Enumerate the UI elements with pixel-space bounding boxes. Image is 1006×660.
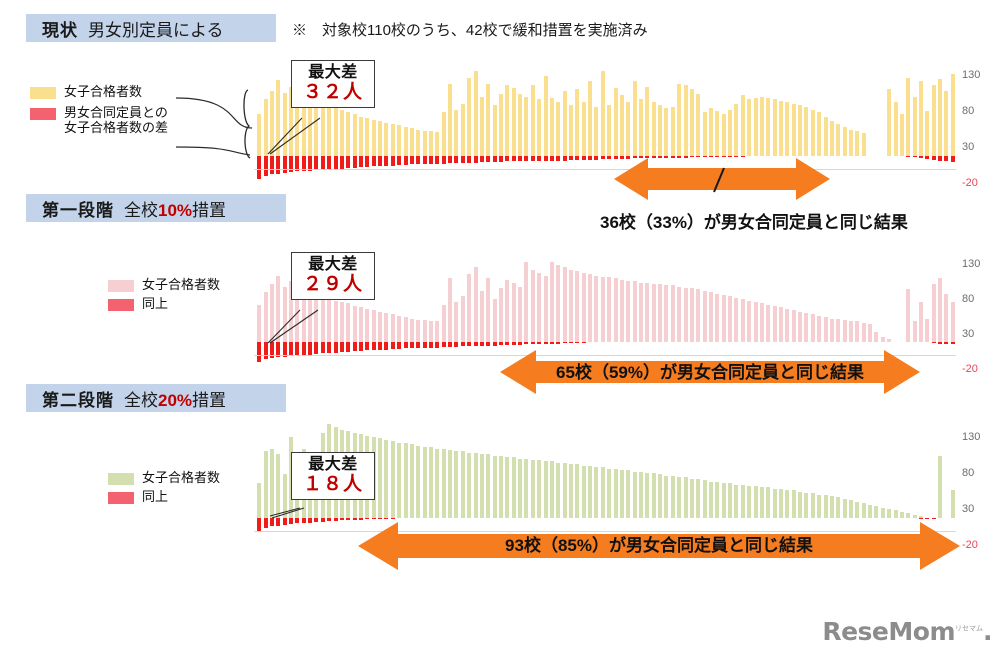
- chart-bar-segment-female-pass: [747, 486, 751, 518]
- callout-stage2-value: １８人: [300, 474, 366, 495]
- chart-bar: [684, 341, 688, 342]
- chart-bar: [448, 341, 452, 342]
- logo-kana: リセマム: [955, 625, 983, 633]
- chart-bar-segment-female-pass: [849, 321, 853, 342]
- chart-bar: [633, 155, 637, 156]
- chart-bar-segment-difference: [709, 156, 713, 157]
- chart-bar: [448, 155, 452, 156]
- chart-bar-segment-female-pass: [391, 124, 395, 156]
- chart-bar-segment-female-pass: [588, 274, 592, 342]
- chart-bar-segment-female-pass: [728, 110, 732, 156]
- chart-bar-segment-female-pass: [429, 447, 433, 518]
- chart-bar: [346, 517, 350, 518]
- chart-bar: [588, 155, 592, 156]
- chart-bar: [327, 517, 331, 518]
- chart-bar: [582, 155, 586, 156]
- chart-bar-segment-difference: [365, 342, 369, 350]
- chart-bar-segment-female-pass: [524, 262, 528, 342]
- chart-bar: [308, 155, 312, 156]
- chart-bar: [295, 517, 299, 518]
- chart-bar: [461, 517, 465, 518]
- chart-bar: [461, 341, 465, 342]
- chart-bar-segment-female-pass: [404, 443, 408, 518]
- chart-bar-segment-difference: [353, 156, 357, 168]
- chart-bar: [894, 341, 898, 342]
- chart-bar-segment-difference: [448, 342, 452, 347]
- chart-bar-segment-female-pass: [378, 438, 382, 517]
- chart-bar-segment-difference: [480, 156, 484, 162]
- chart-bar: [416, 155, 420, 156]
- chart-bar: [785, 341, 789, 342]
- chart-bar: [804, 517, 808, 518]
- chart-bar-segment-female-pass: [601, 467, 605, 517]
- chart-bar-segment-female-pass: [639, 99, 643, 155]
- chart-bar-segment-difference: [416, 342, 420, 348]
- chart-bar-segment-female-pass: [321, 296, 325, 342]
- chart-bar: [715, 341, 719, 342]
- section-header-stage1-strong: 第一段階: [42, 196, 114, 221]
- ytick-80: 80: [962, 467, 974, 479]
- chart-bar-segment-difference: [938, 156, 942, 161]
- chart-bar-segment-female-pass: [747, 301, 751, 343]
- chart-bar-segment-female-pass: [804, 107, 808, 156]
- chart-bar-segment-female-pass: [906, 513, 910, 517]
- chart-bar: [270, 517, 274, 518]
- chart-bar-segment-female-pass: [760, 303, 764, 342]
- chart-bar: [696, 341, 700, 342]
- chart-bar-segment-difference: [314, 518, 318, 522]
- leader-line-difference: [176, 147, 250, 155]
- chart-bar: [283, 517, 287, 518]
- chart-bar-segment-female-pass: [728, 483, 732, 518]
- chart-bar: [505, 341, 509, 342]
- chart-bar-segment-difference: [575, 342, 579, 343]
- chart-bar: [270, 155, 274, 156]
- chart-bar: [474, 155, 478, 156]
- chart-bar: [544, 341, 548, 342]
- chart-bar-segment-difference: [340, 342, 344, 352]
- legend-swatch-female-pass: [108, 473, 134, 485]
- chart-bar-segment-female-pass: [435, 132, 439, 156]
- chart-bar: [671, 155, 675, 156]
- chart-bar-segment-female-pass: [499, 288, 503, 342]
- chart-bar: [658, 517, 662, 518]
- chart-bar: [804, 155, 808, 156]
- chart-bar-segment-difference: [372, 518, 376, 519]
- chart-bar-segment-female-pass: [257, 114, 261, 156]
- chart-bar-segment-difference: [550, 156, 554, 161]
- legend-label-difference: 同上: [142, 489, 168, 504]
- chart-bar: [836, 155, 840, 156]
- chart-bar-segment-female-pass: [664, 108, 668, 156]
- chart-bar: [569, 341, 573, 342]
- chart-bar-segment-female-pass: [435, 449, 439, 518]
- chart-bar-segment-female-pass: [378, 121, 382, 156]
- chart-bar-segment-female-pass: [365, 309, 369, 342]
- chart-bar-segment-female-pass: [442, 112, 446, 155]
- chart-bar-segment-female-pass: [264, 292, 268, 342]
- chart-bar-segment-female-pass: [384, 313, 388, 342]
- legend-item: 同上: [108, 489, 220, 504]
- legend-item: 女子合格者数: [30, 84, 168, 99]
- chart-bar-segment-difference: [384, 518, 388, 519]
- chart-bar-segment-female-pass: [766, 487, 770, 517]
- chart-bar: [435, 517, 439, 518]
- chart-bar: [346, 155, 350, 156]
- chart-bar: [887, 155, 891, 156]
- chart-bar: [575, 517, 579, 518]
- chart-bar: [760, 341, 764, 342]
- chart-bar-segment-female-pass: [620, 280, 624, 342]
- chart-bar: [556, 517, 560, 518]
- chart-bar: [754, 341, 758, 342]
- chart-bar-segment-female-pass: [696, 94, 700, 156]
- ytick-30: 30: [962, 328, 974, 340]
- chart-bar: [365, 517, 369, 518]
- chart-bar-segment-female-pass: [734, 298, 738, 342]
- chart-bar-segment-female-pass: [792, 310, 796, 342]
- chart-bar: [518, 517, 522, 518]
- chart-bar-segment-difference: [257, 518, 261, 531]
- chart-bar-segment-difference: [919, 156, 923, 158]
- chart-stage1-yaxis: 130 80 30 -20: [962, 252, 1006, 356]
- chart-bar: [677, 155, 681, 156]
- chart-bar-segment-female-pass: [620, 95, 624, 155]
- legend-stage1: 女子合格者数 同上: [108, 277, 220, 314]
- chart-bar-segment-female-pass: [664, 285, 668, 342]
- chart-bar: [289, 155, 293, 156]
- chart-bar: [696, 155, 700, 156]
- chart-bar: [722, 341, 726, 342]
- chart-bar-segment-female-pass: [410, 319, 414, 343]
- chart-bar-segment-difference: [448, 156, 452, 163]
- chart-current-yaxis: 130 80 30 -20: [962, 62, 1006, 170]
- chart-bar: [709, 341, 713, 342]
- chart-bar-segment-female-pass: [467, 453, 471, 518]
- chart-bar-segment-female-pass: [798, 105, 802, 155]
- chart-bar-segment-difference: [378, 156, 382, 167]
- chart-bar-segment-difference: [474, 156, 478, 163]
- chart-bar: [728, 341, 732, 342]
- chart-bar: [690, 517, 694, 518]
- chart-bar: [658, 341, 662, 342]
- chart-bar-segment-female-pass: [709, 108, 713, 156]
- chart-bar-segment-female-pass: [378, 312, 382, 343]
- chart-bar-segment-female-pass: [537, 99, 541, 155]
- chart-bar-segment-female-pass: [384, 123, 388, 156]
- chart-bar: [404, 341, 408, 342]
- chart-bar-segment-female-pass: [754, 486, 758, 518]
- chart-bar-segment-female-pass: [512, 457, 516, 517]
- chart-bar-segment-female-pass: [582, 466, 586, 518]
- chart-bar: [314, 341, 318, 342]
- chart-bar-segment-female-pass: [633, 81, 637, 156]
- chart-bar: [868, 155, 872, 156]
- chart-bar: [327, 341, 331, 342]
- chart-bar-segment-difference: [365, 518, 369, 519]
- chart-bar-segment-difference: [932, 156, 936, 160]
- chart-bar: [537, 341, 541, 342]
- chart-bar: [677, 517, 681, 518]
- chart-bar-segment-female-pass: [887, 509, 891, 518]
- chart-bar-segment-female-pass: [696, 289, 700, 342]
- chart-bar-segment-female-pass: [798, 492, 802, 518]
- chart-bar: [862, 341, 866, 342]
- chart-bar-segment-difference: [524, 342, 528, 344]
- chart-bar: [607, 517, 611, 518]
- chart-bar-segment-difference: [289, 518, 293, 524]
- chart-bar-segment-female-pass: [626, 470, 630, 518]
- chart-bar: [836, 517, 840, 518]
- chart-bar-segment-female-pass: [843, 127, 847, 156]
- chart-bar: [652, 155, 656, 156]
- chart-bar-segment-difference: [429, 342, 433, 348]
- chart-bar-segment-female-pass: [493, 299, 497, 342]
- chart-bar: [709, 517, 713, 518]
- chart-bar: [824, 155, 828, 156]
- chart-bar: [454, 341, 458, 342]
- chart-bar-segment-female-pass: [830, 496, 834, 518]
- chart-bar: [620, 155, 624, 156]
- chart-bar-segment-difference: [270, 156, 274, 175]
- chart-bar-segment-female-pass: [372, 120, 376, 156]
- chart-bar-segment-difference: [308, 342, 312, 354]
- chart-bar: [874, 155, 878, 156]
- chart-bar: [556, 155, 560, 156]
- chart-bar: [346, 341, 350, 342]
- chart-bar: [404, 517, 408, 518]
- arrow-current: [614, 158, 830, 200]
- chart-bar: [925, 155, 929, 156]
- chart-bar-segment-difference: [537, 342, 541, 344]
- chart-bar: [760, 155, 764, 156]
- chart-bar-segment-difference: [397, 342, 401, 349]
- chart-bar-segment-female-pass: [760, 97, 764, 156]
- chart-bar: [340, 155, 344, 156]
- chart-bar: [397, 341, 401, 342]
- chart-bar-segment-difference: [423, 342, 427, 348]
- chart-bar: [302, 517, 306, 518]
- chart-bar: [365, 341, 369, 342]
- section-header-stage2: 第二段階 全校20%措置: [26, 384, 286, 412]
- chart-bar: [512, 341, 516, 342]
- chart-bar: [474, 517, 478, 518]
- chart-bar-segment-female-pass: [550, 461, 554, 517]
- chart-bar: [894, 155, 898, 156]
- chart-bar: [353, 517, 357, 518]
- chart-bar-segment-difference: [410, 156, 414, 165]
- chart-bar-segment-difference: [722, 156, 726, 157]
- chart-bar-segment-difference: [365, 156, 369, 168]
- chart-bar-segment-difference: [454, 156, 458, 163]
- chart-bar: [734, 155, 738, 156]
- chart-bar: [493, 341, 497, 342]
- chart-bar-segment-difference: [461, 342, 465, 346]
- chart-bar-segment-female-pass: [283, 287, 287, 342]
- chart-bar: [461, 155, 465, 156]
- chart-bar: [938, 155, 942, 156]
- chart-bar-segment-female-pass: [792, 104, 796, 156]
- chart-bar: [556, 341, 560, 342]
- chart-bar-segment-female-pass: [709, 292, 713, 342]
- chart-bar-segment-female-pass: [404, 317, 408, 342]
- chart-bar-segment-female-pass: [913, 97, 917, 156]
- chart-bar: [881, 341, 885, 342]
- chart-bar-segment-female-pass: [754, 302, 758, 342]
- chart-bar-segment-female-pass: [601, 71, 605, 156]
- chart-bar: [734, 341, 738, 342]
- chart-bar-segment-female-pass: [283, 93, 287, 156]
- chart-bar: [537, 155, 541, 156]
- chart-bar: [512, 517, 516, 518]
- chart-bar: [626, 155, 630, 156]
- chart-bar: [314, 517, 318, 518]
- chart-bar-segment-female-pass: [327, 298, 331, 342]
- chart-bar: [900, 155, 904, 156]
- chart-bar: [855, 341, 859, 342]
- chart-bar: [365, 155, 369, 156]
- chart-bar: [766, 155, 770, 156]
- chart-bar: [696, 517, 700, 518]
- chart-bar: [486, 517, 490, 518]
- ytick-130: 130: [962, 431, 980, 443]
- chart-bar: [493, 155, 497, 156]
- ytick-30: 30: [962, 503, 974, 515]
- arrow-stage2: 93校（85%）が男女合同定員と同じ結果: [358, 522, 960, 570]
- chart-bar-segment-difference: [518, 342, 522, 345]
- chart-bar: [792, 155, 796, 156]
- chart-bar-segment-difference: [410, 342, 414, 348]
- chart-bar: [467, 517, 471, 518]
- chart-bar-segment-difference: [582, 156, 586, 160]
- chart-bar: [951, 341, 955, 342]
- chart-bar-segment-difference: [594, 156, 598, 160]
- chart-bar: [391, 155, 395, 156]
- chart-bar-segment-difference: [378, 342, 382, 350]
- chart-bar-segment-female-pass: [633, 472, 637, 518]
- chart-bar-segment-female-pass: [550, 262, 554, 342]
- leader-line-female-pass: [176, 98, 252, 128]
- chart-bar: [467, 155, 471, 156]
- chart-bar-segment-difference: [944, 156, 948, 162]
- chart-bar: [334, 517, 338, 518]
- chart-bar: [951, 155, 955, 156]
- chart-bar-segment-female-pass: [779, 307, 783, 342]
- chart-bar: [518, 155, 522, 156]
- chart-bar: [913, 341, 917, 342]
- chart-bar-segment-difference: [327, 156, 331, 170]
- chart-bar: [480, 341, 484, 342]
- chart-bar-segment-female-pass: [760, 487, 764, 517]
- chart-bar-segment-female-pass: [836, 319, 840, 342]
- chart-bar: [321, 155, 325, 156]
- chart-bar-segment-female-pass: [454, 302, 458, 342]
- chart-bar: [614, 517, 618, 518]
- chart-bar: [416, 517, 420, 518]
- chart-bar: [594, 341, 598, 342]
- chart-bar-segment-female-pass: [416, 320, 420, 342]
- chart-bar-segment-difference: [951, 156, 955, 162]
- chart-bar: [321, 517, 325, 518]
- chart-bar-segment-difference: [340, 156, 344, 169]
- chart-bar-segment-female-pass: [276, 80, 280, 156]
- chart-bar-segment-female-pass: [798, 312, 802, 343]
- chart-bar-segment-female-pass: [817, 112, 821, 155]
- chart-bar-segment-female-pass: [690, 89, 694, 155]
- chart-bar-segment-difference: [321, 156, 325, 170]
- chart-bar: [569, 517, 573, 518]
- chart-bar-segment-female-pass: [849, 500, 853, 517]
- chart-bar-segment-female-pass: [652, 284, 656, 342]
- chart-bar-segment-female-pass: [919, 81, 923, 156]
- chart-bar-segment-female-pass: [594, 467, 598, 517]
- chart-bar: [849, 155, 853, 156]
- chart-bar-segment-female-pass: [671, 476, 675, 518]
- chart-bar: [397, 517, 401, 518]
- chart-bar-segment-female-pass: [531, 85, 535, 156]
- chart-bar-segment-difference: [715, 156, 719, 157]
- chart-bar-segment-female-pass: [766, 305, 770, 342]
- chart-bar-segment-female-pass: [435, 321, 439, 342]
- chart-bar-segment-difference: [544, 342, 548, 343]
- chart-bar-segment-female-pass: [664, 476, 668, 518]
- chart-bar-segment-difference: [264, 342, 268, 359]
- chart-bar-segment-difference: [607, 156, 611, 160]
- chart-bar-segment-female-pass: [524, 459, 528, 518]
- chart-bar-segment-female-pass: [257, 483, 261, 518]
- chart-bar-segment-female-pass: [645, 87, 649, 156]
- chart-bar: [404, 155, 408, 156]
- chart-bar-segment-female-pass: [448, 278, 452, 342]
- ytick-neg20: -20: [962, 177, 978, 189]
- chart-bar-segment-difference: [353, 518, 357, 520]
- callout-stage1-title: 最大差: [300, 255, 366, 274]
- chart-bar: [614, 341, 618, 342]
- chart-bar-segment-female-pass: [569, 464, 573, 517]
- chart-bar-segment-female-pass: [556, 463, 560, 518]
- chart-bar: [722, 155, 726, 156]
- chart-bar: [289, 341, 293, 342]
- chart-bar-segment-female-pass: [474, 267, 478, 342]
- chart-bar-segment-female-pass: [862, 323, 866, 342]
- chart-bar-segment-difference: [327, 342, 331, 353]
- chart-bar-segment-female-pass: [722, 483, 726, 518]
- chart-bar-segment-difference: [314, 342, 318, 354]
- chart-bar-segment-difference: [556, 156, 560, 161]
- chart-bar-segment-female-pass: [480, 291, 484, 342]
- chart-bar-segment-female-pass: [855, 321, 859, 342]
- chart-bar: [531, 517, 535, 518]
- chart-bar: [607, 155, 611, 156]
- chart-bar: [652, 517, 656, 518]
- chart-bar-segment-female-pass: [913, 321, 917, 342]
- chart-bar-segment-difference: [518, 156, 522, 162]
- chart-bar: [614, 155, 618, 156]
- chart-bar-segment-difference: [435, 342, 439, 348]
- chart-bar: [264, 517, 268, 518]
- chart-bar: [900, 517, 904, 518]
- chart-bar-segment-female-pass: [639, 472, 643, 518]
- chart-bar-segment-difference: [308, 518, 312, 523]
- chart-bar: [594, 155, 598, 156]
- chart-bar-segment-female-pass: [804, 313, 808, 342]
- chart-bar: [601, 517, 605, 518]
- chart-bar-segment-female-pass: [270, 284, 274, 342]
- chart-bar: [467, 341, 471, 342]
- chart-bar-segment-female-pass: [518, 94, 522, 156]
- chart-bar: [830, 517, 834, 518]
- chart-bar-segment-difference: [295, 518, 299, 524]
